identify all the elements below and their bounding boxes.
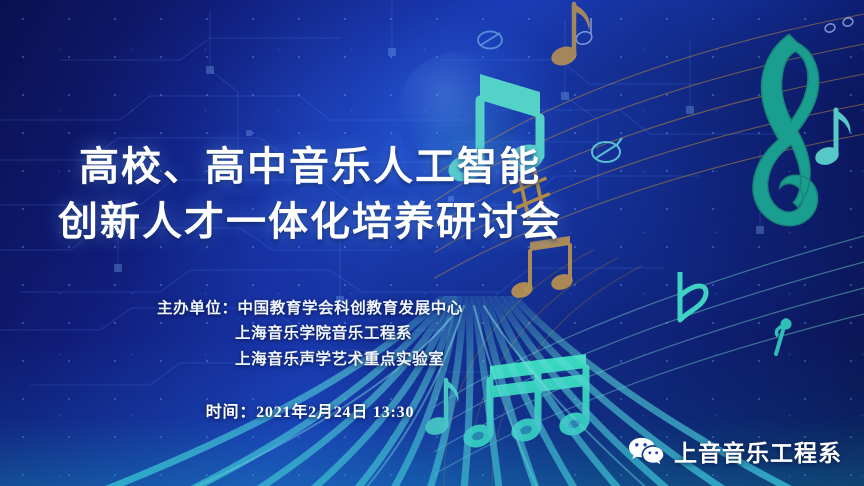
treble-clef-icon: [753, 35, 819, 226]
organizer-line-3: 上海音乐声学艺术重点实验室: [157, 347, 463, 372]
poster-title-line-2: 创新人才一体化培养研讨会: [58, 195, 562, 250]
poster-title-line-1: 高校、高中音乐人工智能: [79, 140, 541, 195]
wechat-icon: [627, 436, 665, 466]
organizer-line-1: 主办单位：中国教育学会科创教育发展中心: [157, 300, 463, 317]
poster-text-content: 高校、高中音乐人工智能 创新人才一体化培养研讨会 主办单位：中国教育学会科创教育…: [0, 0, 620, 486]
conference-poster: 高校、高中音乐人工智能 创新人才一体化培养研讨会 主办单位：中国教育学会科创教育…: [0, 0, 864, 486]
single-eighth-note-icon: [813, 110, 850, 168]
organizers-block: 主办单位：中国教育学会科创教育发展中心 上海音乐学院音乐工程系 上海音乐声学艺术…: [157, 296, 463, 371]
event-time: 时间：2021年2月24日 13:30: [206, 398, 415, 422]
wechat-badge: 上音音乐工程系: [627, 434, 842, 468]
wechat-badge-text: 上音音乐工程系: [674, 434, 842, 468]
organizer-line-2: 上海音乐学院音乐工程系: [157, 321, 463, 346]
